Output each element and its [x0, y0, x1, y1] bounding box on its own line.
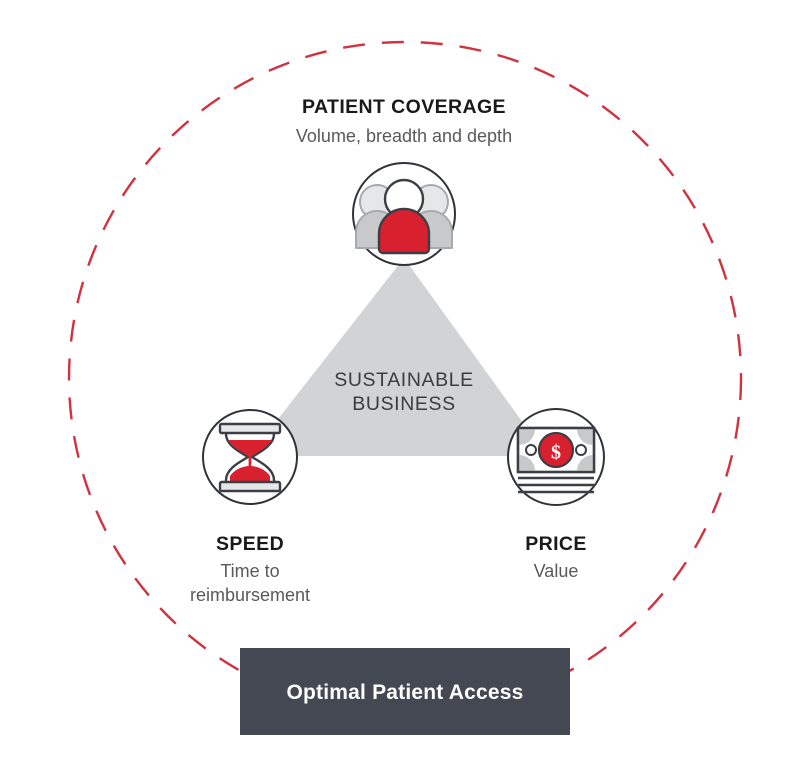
svg-text:$: $ — [551, 442, 561, 464]
speed-node[interactable] — [203, 410, 297, 504]
sustainable-business-triangle — [249, 258, 547, 456]
patient-coverage-subtitle: Volume, breadth and depth — [296, 126, 512, 146]
people-icon — [356, 180, 452, 253]
center-label-line1: SUSTAINABLE — [334, 369, 474, 391]
patient-access-framework-diagram: SUSTAINABLE BUSINESS PATIENT COVERAGE Vo… — [0, 0, 811, 775]
optimal-patient-access-label: Optimal Patient Access — [286, 681, 523, 704]
price-title: PRICE — [525, 533, 587, 555]
patient-coverage-node[interactable] — [353, 163, 455, 265]
price-node[interactable]: $ — [508, 409, 604, 505]
speed-subtitle-line2: reimbursement — [190, 585, 310, 605]
patient-coverage-title: PATIENT COVERAGE — [302, 96, 506, 118]
diagram-canvas: SUSTAINABLE BUSINESS PATIENT COVERAGE Vo… — [0, 0, 811, 775]
speed-title: SPEED — [216, 533, 284, 555]
center-label-line2: BUSINESS — [352, 393, 455, 415]
price-subtitle: Value — [534, 561, 579, 581]
speed-subtitle-line1: Time to — [220, 561, 279, 581]
